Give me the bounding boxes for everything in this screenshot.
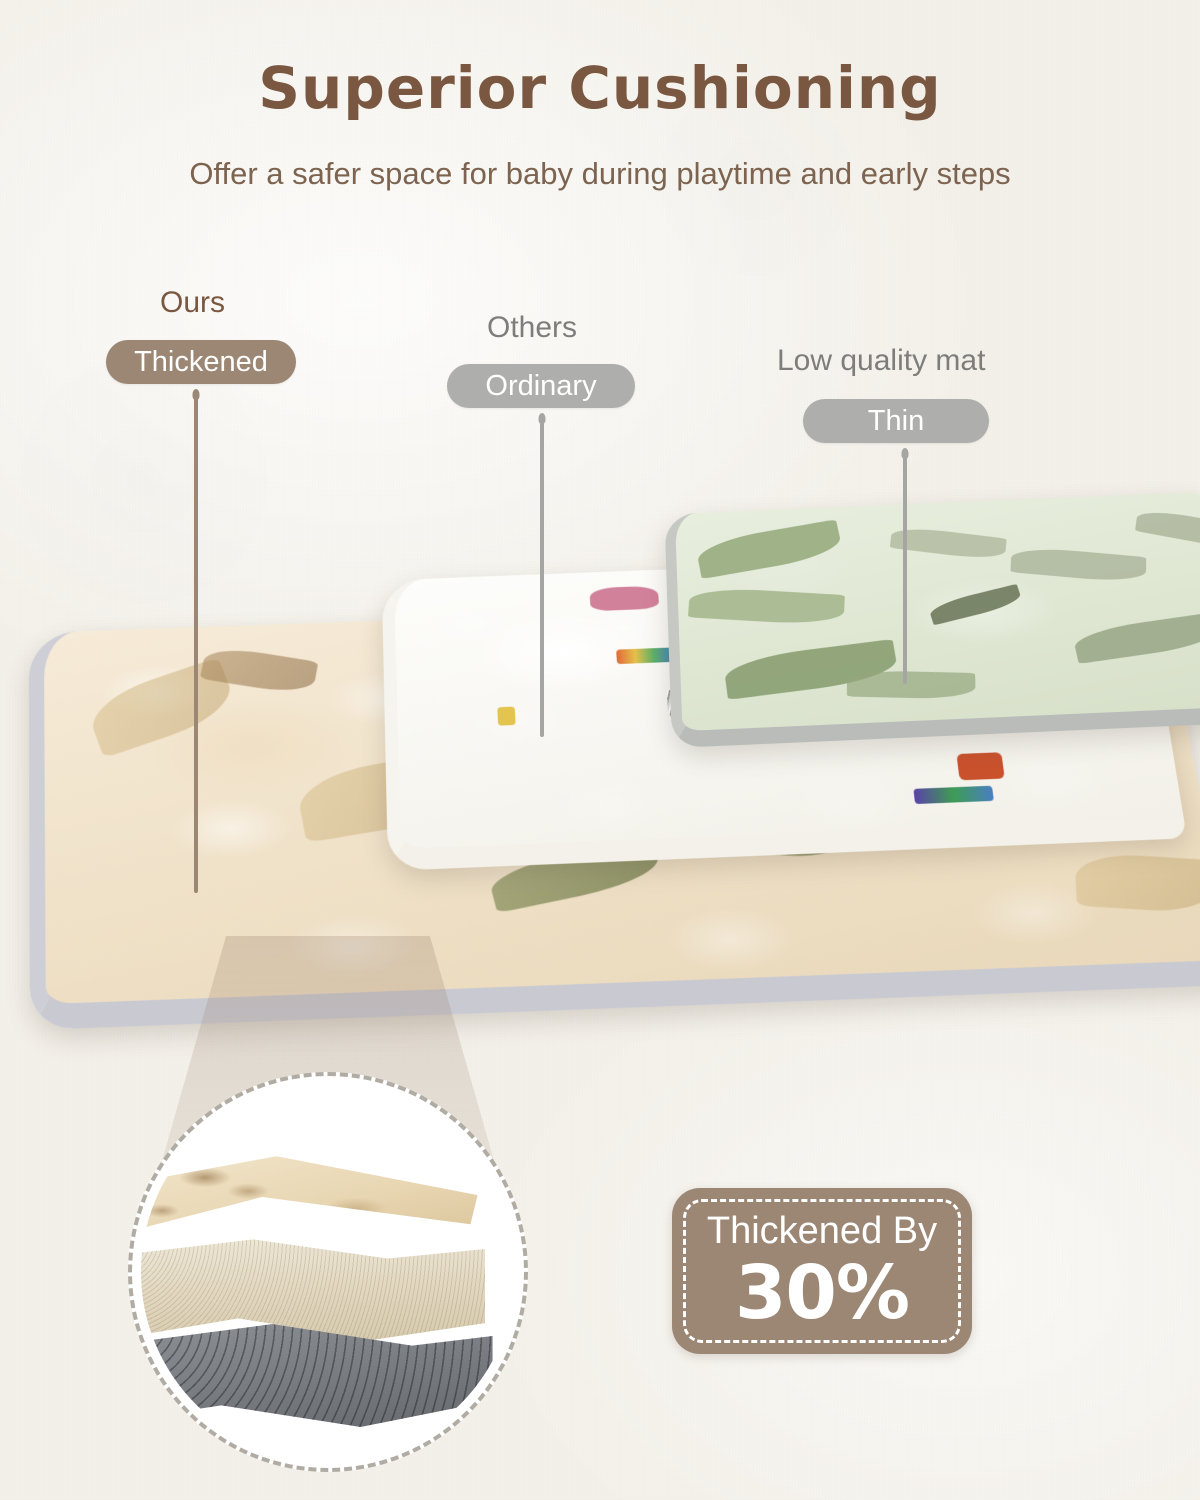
pointer-line-low-quality [903, 452, 907, 684]
print-motif [956, 752, 1004, 780]
banana-leaf-print [1135, 507, 1200, 552]
callout-label: Thickened By [707, 1212, 937, 1250]
pointer-line-others [540, 417, 544, 737]
mat-low-quality-thin [664, 492, 1200, 748]
cross-section-magnifier [128, 1072, 528, 1472]
infographic-page: Superior Cushioning Offer a safer space … [0, 0, 1200, 1500]
mesh-dot-texture [141, 1317, 493, 1437]
column-label-ours: Ours [160, 286, 225, 320]
leaf-print-shape [1074, 851, 1200, 914]
banana-leaf-print [1072, 612, 1200, 664]
badge-ordinary: Ordinary [447, 364, 635, 408]
banana-leaf-print [1011, 546, 1147, 585]
print-motif [590, 585, 660, 611]
printed-fabric-pattern [141, 1152, 478, 1249]
thickened-by-callout: Thickened By 30% [672, 1188, 972, 1354]
print-motif [497, 707, 515, 726]
badge-thin: Thin [803, 399, 989, 443]
banana-leaf-print [695, 519, 844, 579]
pointer-line-ours [194, 393, 198, 893]
banana-leaf-print [688, 586, 845, 626]
magnifier-inner [141, 1085, 515, 1459]
callout-percentage: 30% [735, 1256, 909, 1330]
column-label-others: Others [487, 311, 577, 345]
banana-leaf-print [890, 525, 1007, 562]
column-label-low-quality: Low quality mat [777, 344, 985, 378]
banana-leaf-print [927, 584, 1022, 626]
badge-thickened: Thickened [106, 340, 296, 384]
banana-leaf-print [847, 670, 976, 699]
